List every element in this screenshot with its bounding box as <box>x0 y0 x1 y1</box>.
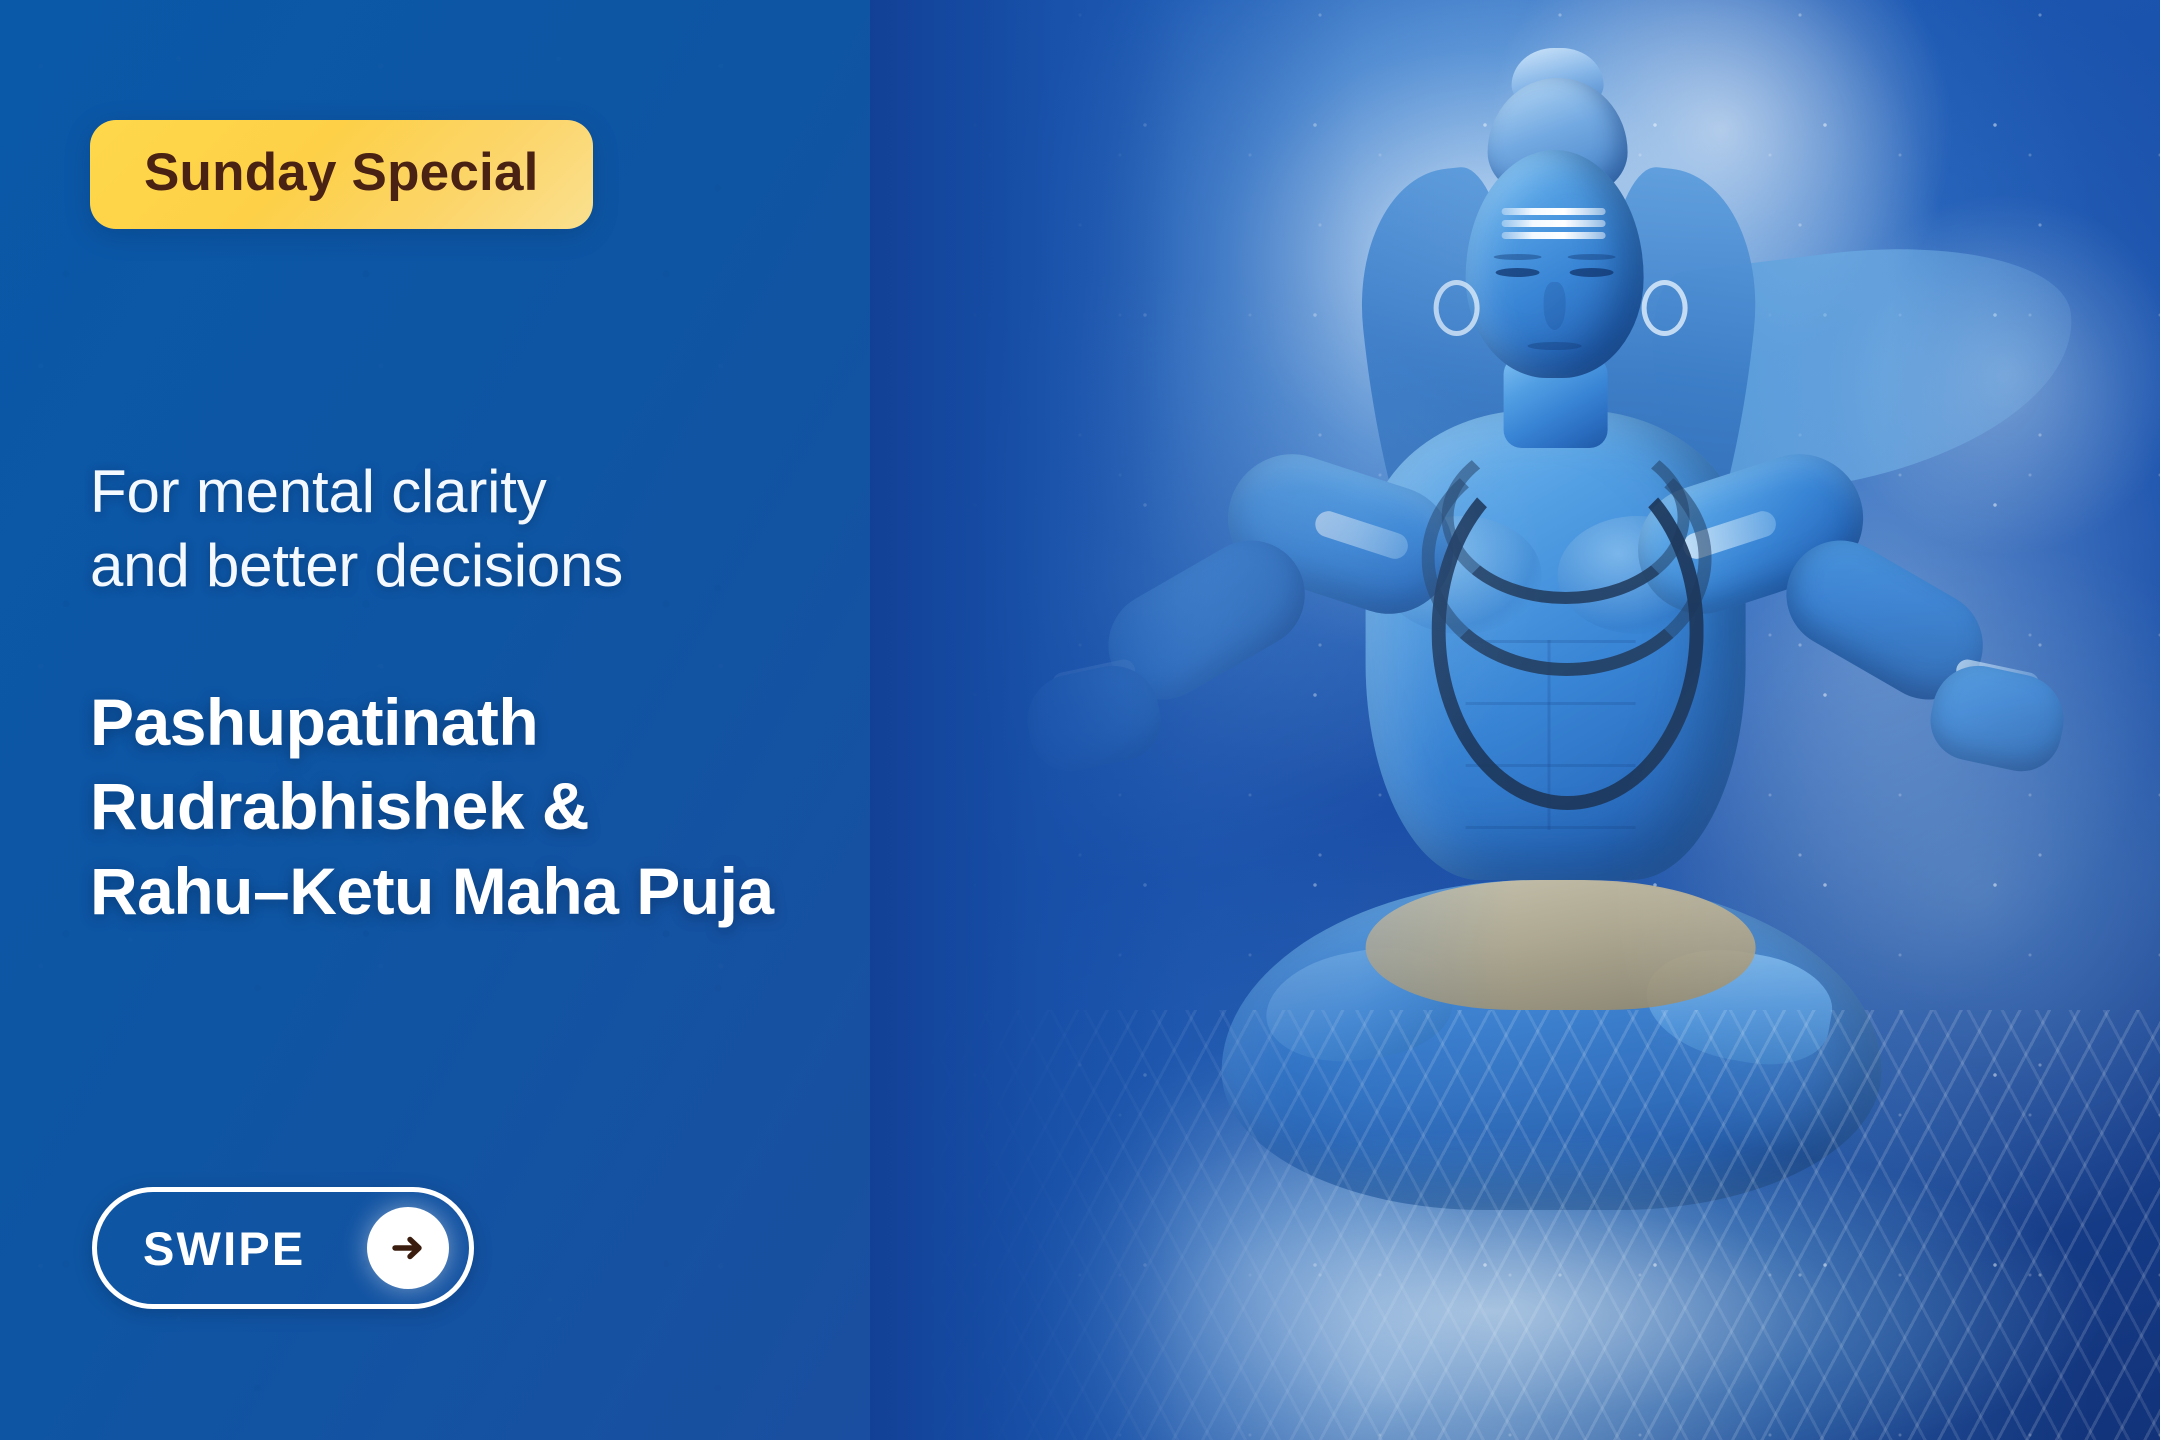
artwork-left-blend <box>870 0 2160 1440</box>
badge-label: Sunday Special <box>144 146 539 199</box>
subheadline: For mental clarity and better decisions <box>90 455 623 604</box>
subheadline-line-2: and better decisions <box>90 529 623 603</box>
headline-line-2: Rudrabhishek & <box>90 764 774 848</box>
headline: Pashupatinath Rudrabhishek & Rahu–Ketu M… <box>90 680 774 933</box>
subheadline-line-1: For mental clarity <box>90 455 623 529</box>
sunday-special-badge: Sunday Special <box>90 120 593 229</box>
arrow-right-icon[interactable] <box>367 1207 449 1289</box>
promo-banner: Sunday Special For mental clarity and be… <box>0 0 2160 1440</box>
content-panel: Sunday Special For mental clarity and be… <box>0 0 1000 1440</box>
swipe-button[interactable]: SWIPE <box>92 1187 474 1309</box>
headline-line-1: Pashupatinath <box>90 680 774 764</box>
swipe-label: SWIPE <box>143 1221 305 1276</box>
shiva-artwork <box>870 0 2160 1440</box>
headline-line-3: Rahu–Ketu Maha Puja <box>90 849 774 933</box>
